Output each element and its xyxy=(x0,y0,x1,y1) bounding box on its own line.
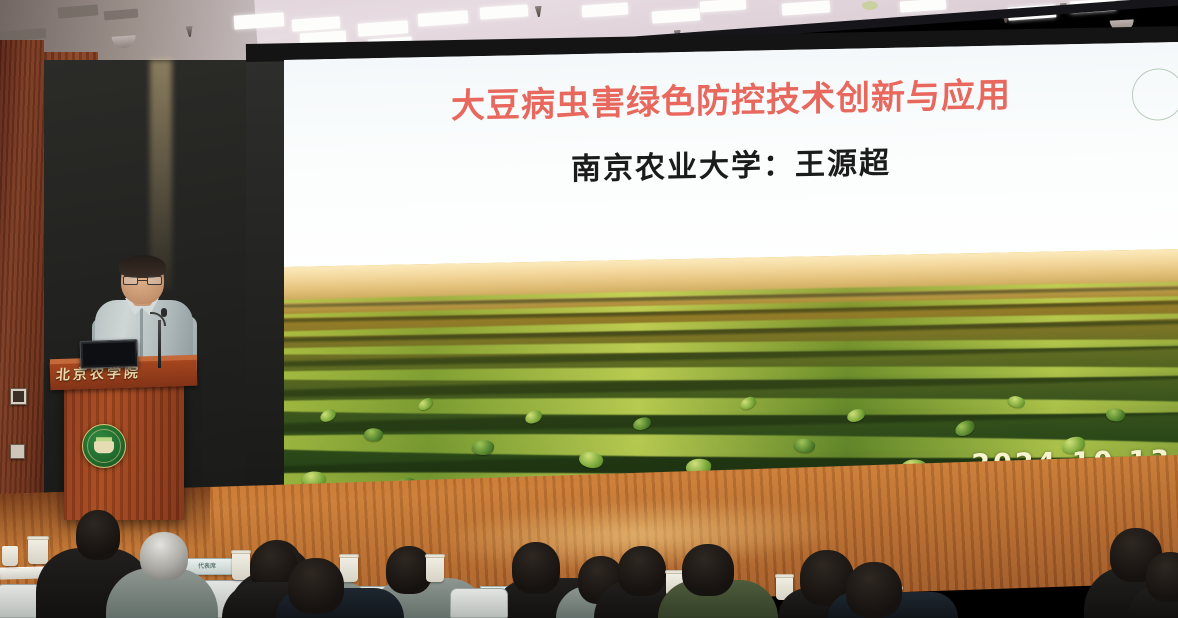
microphone-stem xyxy=(158,320,161,368)
audience-cup xyxy=(2,546,18,566)
speaker-glasses xyxy=(123,276,162,285)
crest-ring xyxy=(87,429,121,463)
auditorium-scene: 2024.10.13 大豆病虫害绿色防控技术创新与应用 南京农业大学：王源超 北… xyxy=(0,0,1178,618)
glasses-right-lens xyxy=(147,276,162,285)
glasses-bridge xyxy=(138,280,147,281)
audience-person-head xyxy=(618,546,666,596)
audience-cup-lid xyxy=(775,574,794,578)
audience-cup-lid xyxy=(339,554,359,558)
audience-person-head xyxy=(1146,552,1178,602)
microphone-head-icon xyxy=(161,308,167,317)
audience-person-head xyxy=(76,510,120,560)
university-crest-icon xyxy=(82,424,126,468)
audience-cup-lid xyxy=(27,536,49,540)
slide-logo-watermark-icon xyxy=(1132,68,1178,121)
laptop[interactable] xyxy=(80,339,139,369)
audience-person-head xyxy=(288,558,344,614)
audience-chair xyxy=(450,588,508,618)
audience-cup xyxy=(232,552,250,580)
audience-person-head xyxy=(140,532,188,580)
audience-person-head xyxy=(512,542,560,594)
projection-screen[interactable]: 2024.10.13 大豆病虫害绿色防控技术创新与应用 南京农业大学：王源超 xyxy=(284,42,1178,500)
audience-cup-lid xyxy=(425,554,445,558)
audience-cup-lid xyxy=(231,550,251,554)
ceiling-indicator-light xyxy=(862,1,878,10)
audience-cup xyxy=(426,556,444,582)
left-wall-texture xyxy=(0,40,44,540)
glasses-left-lens xyxy=(123,276,138,285)
wall-socket-plate xyxy=(10,388,27,405)
audience-person-head xyxy=(846,562,902,618)
speaker-hair xyxy=(119,255,166,278)
laptop-screen xyxy=(83,342,136,366)
wall-switch-plate[interactable] xyxy=(10,444,25,459)
wall-socket-inner xyxy=(13,391,24,402)
audience-cup xyxy=(28,538,48,564)
audience-person-head xyxy=(682,544,734,596)
